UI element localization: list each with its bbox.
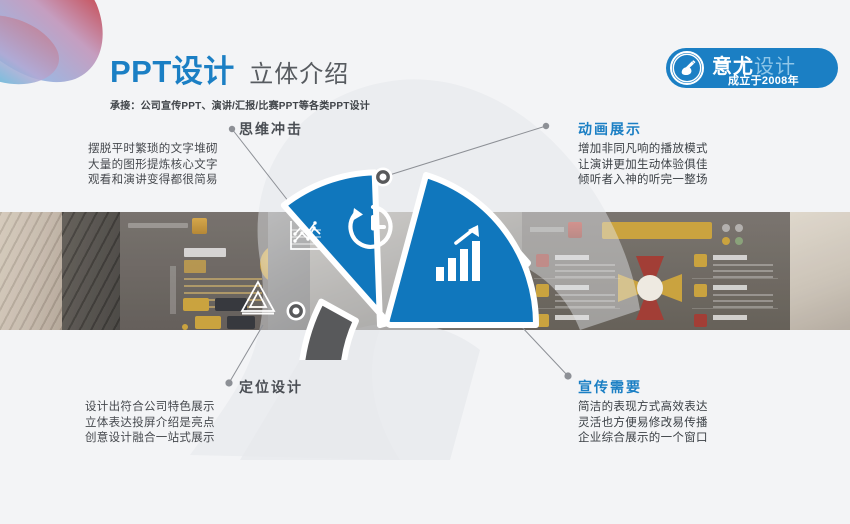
wheel-node-upper-left[interactable]: [287, 302, 306, 321]
callout-line: 让演讲更加生动体验俱佳: [578, 158, 798, 174]
callout-body: 摆脱平时繁琐的文字堆砌 大量的图形提炼核心文字 观看和演讲变得都很简易: [88, 142, 303, 189]
page-subtitle: 立体介绍: [249, 54, 349, 89]
callout-line: 大量的图形提炼核心文字: [88, 158, 303, 174]
callout-title: 动画展示: [578, 120, 798, 138]
callout-line: 立体表达投屏介绍是亮点: [85, 416, 303, 432]
callout-line: 摆脱平时繁琐的文字堆砌: [88, 142, 303, 158]
callout-body: 简洁的表现方式高效表达 灵活也方便易修改易传播 企业综合展示的一个窗口: [578, 400, 803, 447]
callout-siwei-chongji: 思维冲击 摆脱平时繁琐的文字堆砌 大量的图形提炼核心文字 观看和演讲变得都很简易: [88, 120, 303, 189]
wheel-node-top[interactable]: [374, 168, 393, 187]
callout-line: 灵活也方便易修改易传播: [578, 416, 803, 432]
connector-dot-xuanchuan: [564, 372, 571, 379]
page-title: PPT设计: [110, 46, 235, 91]
brush-nib-icon: [670, 51, 704, 85]
callout-donghua-zhanshi: 动画展示 增加非同凡响的播放模式 让演讲更加生动体验俱佳 倾听者入神的听完一整场: [578, 120, 798, 189]
callout-line: 增加非同凡响的播放模式: [578, 142, 798, 158]
callout-line: 观看和演讲变得都很简易: [88, 173, 303, 189]
callout-line: 企业综合展示的一个窗口: [578, 431, 803, 447]
slide-canvas: PPT设计 立体介绍 承接：公司宣传PPT、演讲/汇报/比赛PPT等各类PPT设…: [0, 0, 850, 524]
callout-title: 宣传需要: [578, 378, 803, 396]
callout-xuanchuan-xuyao: 宣传需要 简洁的表现方式高效表达 灵活也方便易修改易传播 企业综合展示的一个窗口: [578, 378, 803, 447]
callout-title: 思维冲击: [88, 120, 303, 138]
callout-line: 设计出符合公司特色展示: [85, 400, 303, 416]
callout-line: 创意设计融合一站式展示: [85, 431, 303, 447]
brand-logo[interactable]: 意尤设计 成立于2008年: [666, 48, 838, 88]
callout-body: 增加非同凡响的播放模式 让演讲更加生动体验俱佳 倾听者入神的听完一整场: [578, 142, 798, 189]
callout-line: 简洁的表现方式高效表达: [578, 400, 803, 416]
callout-line: 倾听者入神的听完一整场: [578, 173, 798, 189]
callout-dingwei-sheji: 定位设计 设计出符合公司特色展示 立体表达投屏介绍是亮点 创意设计融合一站式展示: [85, 378, 303, 447]
nested-triangle-icon: [242, 282, 274, 314]
brand-since: 成立于2008年: [728, 72, 799, 88]
callout-body: 设计出符合公司特色展示 立体表达投屏介绍是亮点 创意设计融合一站式展示: [85, 400, 303, 447]
callout-title: 定位设计: [85, 378, 303, 396]
